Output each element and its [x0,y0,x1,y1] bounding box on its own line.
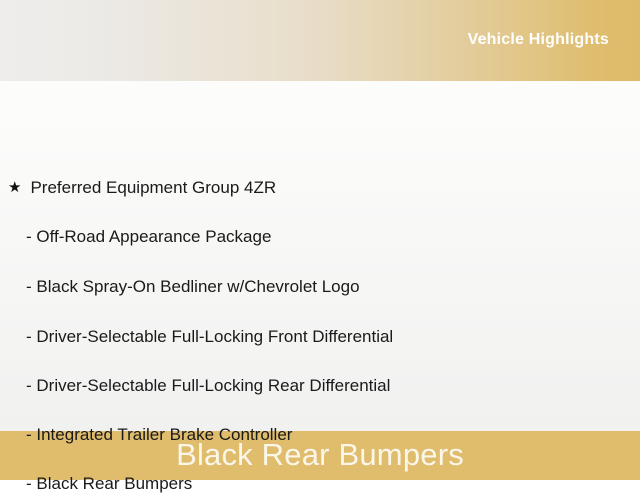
list-item: - Integrated Trailer Brake Controller [0,424,640,446]
list-item: - Black Spray-On Bedliner w/Chevrolet Lo… [0,276,640,298]
list-item-label: - Driver-Selectable Full-Locking Rear Di… [26,375,390,397]
list-item-label: - Off-Road Appearance Package [26,226,271,248]
page-title: Vehicle Highlights [468,32,609,50]
list-item-label: Preferred Equipment Group 4ZR [30,177,276,199]
star-icon: ★ [8,177,21,199]
list-item: - Driver-Selectable Full-Locking Front D… [0,326,640,348]
list-item-label: - Black Rear Bumpers [26,473,192,495]
list-item: ★ Preferred Equipment Group 4ZR [0,177,640,199]
list-item: - Driver-Selectable Full-Locking Rear Di… [0,375,640,397]
list-item: - Black Rear Bumpers [0,473,640,495]
list-item: - Off-Road Appearance Package [0,226,640,248]
list-item-label: - Integrated Trailer Brake Controller [26,424,292,446]
vehicle-highlights-slide: Vehicle Highlights ★ Preferred Equipment… [0,0,640,480]
list-item-label: - Driver-Selectable Full-Locking Front D… [26,326,393,348]
list-item-label: - Black Spray-On Bedliner w/Chevrolet Lo… [26,276,360,298]
vehicle-highlights-list: ★ Preferred Equipment Group 4ZR - Off-Ro… [0,81,640,431]
slide-header: Vehicle Highlights [0,0,640,81]
